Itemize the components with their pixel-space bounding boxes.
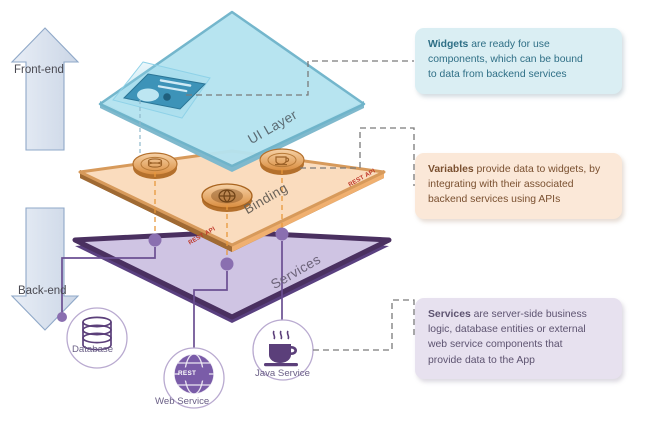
callout-services-line-1: Services are server-side business <box>428 307 611 322</box>
callout-widgets: Widgets are ready for use components, wh… <box>415 28 622 94</box>
callout-variables: Variables provide data to widgets, by in… <box>415 153 622 219</box>
callout-widgets-line-2: components, which can be bound <box>428 52 611 67</box>
callout-variables-line-3: backend services using APIs <box>428 192 611 207</box>
callout-variables-line-1: Variables provide data to widgets, by <box>428 162 611 177</box>
back-end-arrow-label: Back-end <box>18 285 67 297</box>
database-node-label: Database <box>72 344 113 355</box>
rest-badge: REST <box>178 370 196 377</box>
architecture-diagram: UI Layer Binding Services REST API REST … <box>0 0 650 427</box>
callout-services-term: Services <box>428 309 471 320</box>
callout-widgets-line-3: to data from backend services <box>428 67 611 82</box>
callout-variables-term: Variables <box>428 164 474 175</box>
callout-widgets-line-1: Widgets are ready for use <box>428 37 611 52</box>
callout-services: Services are server-side business logic,… <box>415 298 622 379</box>
front-end-arrow-label: Front-end <box>14 64 64 76</box>
callout-services-line-2: logic, database entities or external <box>428 322 611 337</box>
web-service-node-label: Web Service <box>155 396 209 407</box>
callout-services-line-4: provide data to the App <box>428 353 611 368</box>
callout-variables-line-2: integrating with their associated <box>428 177 611 192</box>
service-node-database[interactable] <box>67 308 127 368</box>
callout-widgets-term: Widgets <box>428 39 468 50</box>
java-service-node-label: Java Service <box>255 368 310 379</box>
flow-arrow-front-end <box>12 28 78 150</box>
callout-services-line-3: web service components that <box>428 337 611 352</box>
flow-arrow-back-end <box>12 208 78 330</box>
